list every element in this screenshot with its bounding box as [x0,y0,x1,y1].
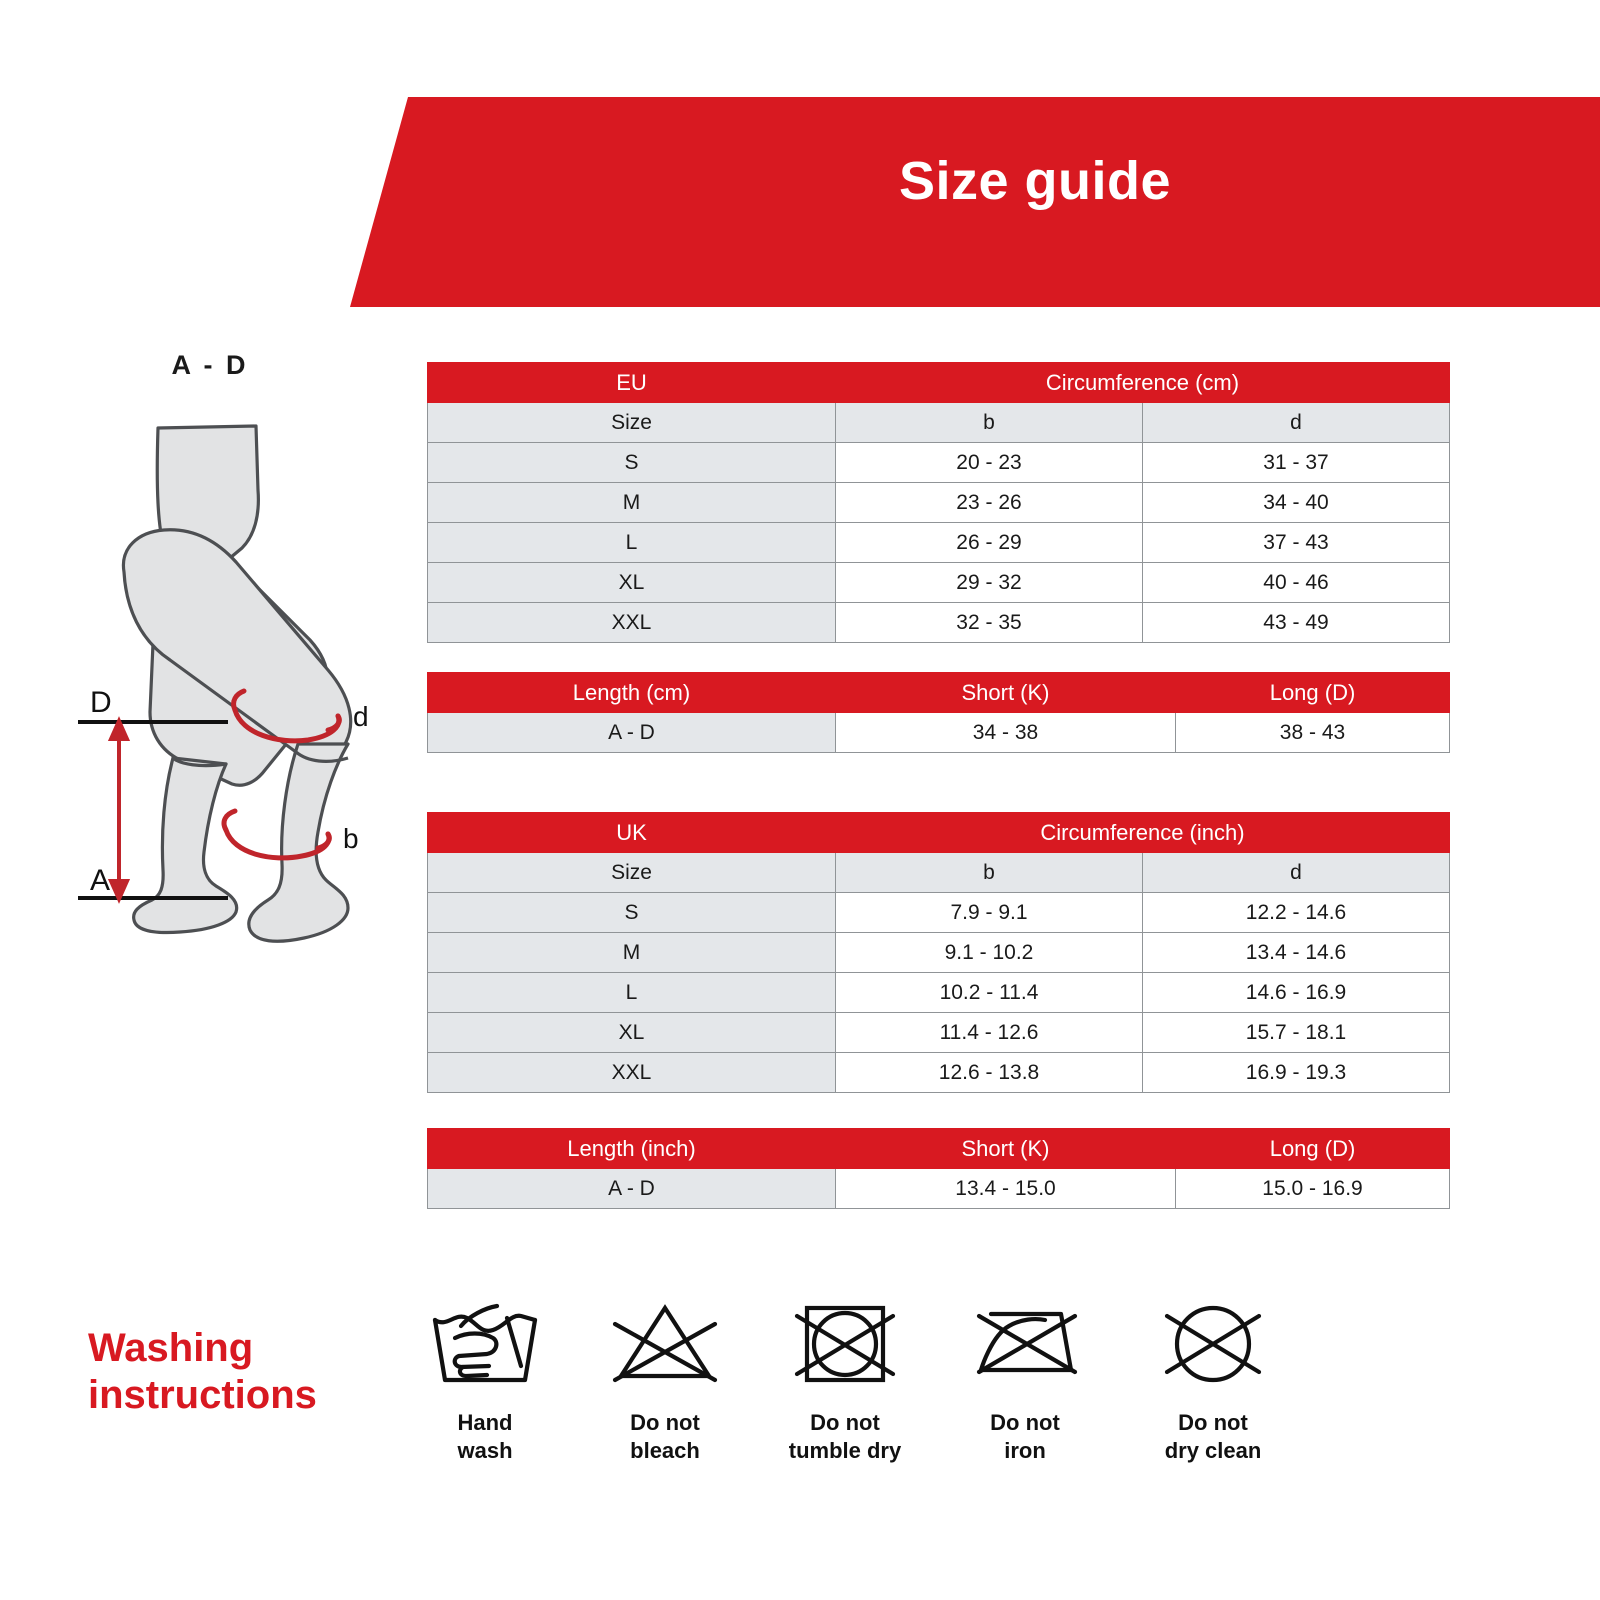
marker-label-a: A [90,864,110,897]
care-symbol-do-not-bleach: Do not bleach [570,1290,760,1464]
care-symbols-row: Hand wash Do not bleach [390,1290,1350,1520]
cell-size: XL [428,1013,836,1053]
table-row: A - D 13.4 - 15.0 15.0 - 16.9 [428,1169,1450,1209]
do-not-iron-icon [930,1290,1120,1395]
cell-b: 32 - 35 [836,603,1143,643]
cell-d: 16.9 - 19.3 [1143,1053,1450,1093]
table-subheader-row: Size b d [428,403,1450,443]
table-uk-circumference: UK Circumference (inch) Size b d S 7.9 -… [427,812,1450,1093]
washing-title-line2: instructions [88,1372,388,1419]
cell-d: 31 - 37 [1143,443,1450,483]
table-length-cm: Length (cm) Short (K) Long (D) A - D 34 … [427,672,1450,753]
table-row: XXL 32 - 35 43 - 49 [428,603,1450,643]
washing-instructions-title: Washing instructions [88,1325,388,1419]
table-row: L 10.2 - 11.4 14.6 - 16.9 [428,973,1450,1013]
cell-d: 14.6 - 16.9 [1143,973,1450,1013]
subheader-d: d [1143,403,1450,443]
table-header-row: Length (inch) Short (K) Long (D) [428,1129,1450,1169]
ring-label-b: b [343,823,359,854]
far-lower-leg-foot [134,758,237,933]
do-not-tumble-dry-icon [750,1290,940,1395]
subheader-b: b [836,403,1143,443]
subheader-size: Size [428,403,836,443]
cell-short: 13.4 - 15.0 [836,1169,1176,1209]
cell-d: 37 - 43 [1143,523,1450,563]
care-label-do-not-tumble-dry: Do not tumble dry [750,1409,940,1464]
care-label-hand-wash: Hand wash [390,1409,580,1464]
table-row: XXL 12.6 - 13.8 16.9 - 19.3 [428,1053,1450,1093]
header-uk-region: UK [428,813,836,853]
cell-size: XL [428,563,836,603]
cell-size: L [428,973,836,1013]
header-eu-measure: Circumference (cm) [836,363,1450,403]
header-long: Long (D) [1176,673,1450,713]
hand-wash-icon [390,1290,580,1395]
cell-d: 34 - 40 [1143,483,1450,523]
cell-size: S [428,893,836,933]
cell-range: A - D [428,1169,836,1209]
header-uk-measure: Circumference (inch) [836,813,1450,853]
cell-b: 7.9 - 9.1 [836,893,1143,933]
cell-range: A - D [428,713,836,753]
cell-short: 34 - 38 [836,713,1176,753]
cell-size: M [428,483,836,523]
table-row: S 7.9 - 9.1 12.2 - 14.6 [428,893,1450,933]
header-length: Length (cm) [428,673,836,713]
cell-b: 23 - 26 [836,483,1143,523]
cell-d: 13.4 - 14.6 [1143,933,1450,973]
table-row: S 20 - 23 31 - 37 [428,443,1450,483]
table-row: M 9.1 - 10.2 13.4 - 14.6 [428,933,1450,973]
cell-b: 12.6 - 13.8 [836,1053,1143,1093]
care-symbol-do-not-dry-clean: Do not dry clean [1118,1290,1308,1464]
table-row: XL 11.4 - 12.6 15.7 - 18.1 [428,1013,1450,1053]
subheader-b: b [836,853,1143,893]
header-long: Long (D) [1176,1129,1450,1169]
cell-d: 15.7 - 18.1 [1143,1013,1450,1053]
subheader-d: d [1143,853,1450,893]
cell-size: S [428,443,836,483]
table-header-row: UK Circumference (inch) [428,813,1450,853]
cell-b: 11.4 - 12.6 [836,1013,1143,1053]
do-not-dry-clean-icon [1118,1290,1308,1395]
care-label-do-not-iron: Do not iron [930,1409,1120,1464]
length-arrow-a-to-d [111,721,127,899]
cell-long: 38 - 43 [1176,713,1450,753]
table-row: A - D 34 - 38 38 - 43 [428,713,1450,753]
cell-size: M [428,933,836,973]
table-row: XL 29 - 32 40 - 46 [428,563,1450,603]
care-label-do-not-dry-clean: Do not dry clean [1118,1409,1308,1464]
subheader-size: Size [428,853,836,893]
care-symbol-hand-wash: Hand wash [390,1290,580,1464]
ring-label-d: d [353,701,369,732]
care-symbol-do-not-tumble-dry: Do not tumble dry [750,1290,940,1464]
header-short: Short (K) [836,1129,1176,1169]
cell-long: 15.0 - 16.9 [1176,1169,1450,1209]
cell-size: XXL [428,1053,836,1093]
table-header-row: EU Circumference (cm) [428,363,1450,403]
care-symbol-do-not-iron: Do not iron [930,1290,1120,1464]
page-title: Size guide [470,150,1600,212]
cell-size: XXL [428,603,836,643]
size-guide-page: Size guide A - D [0,0,1600,1600]
cell-d: 43 - 49 [1143,603,1450,643]
care-label-do-not-bleach: Do not bleach [570,1409,760,1464]
washing-title-line1: Washing [88,1325,388,1372]
cell-d: 40 - 46 [1143,563,1450,603]
header-eu-region: EU [428,363,836,403]
cell-b: 9.1 - 10.2 [836,933,1143,973]
table-row: M 23 - 26 34 - 40 [428,483,1450,523]
table-eu-circumference: EU Circumference (cm) Size b d S 20 - 23… [427,362,1450,643]
marker-label-d: D [90,686,112,719]
header-length: Length (inch) [428,1129,836,1169]
table-subheader-row: Size b d [428,853,1450,893]
do-not-bleach-icon [570,1290,760,1395]
cell-d: 12.2 - 14.6 [1143,893,1450,933]
leg-illustration: d b D A [60,340,390,960]
table-header-row: Length (cm) Short (K) Long (D) [428,673,1450,713]
cell-b: 20 - 23 [836,443,1143,483]
cell-size: L [428,523,836,563]
cell-b: 29 - 32 [836,563,1143,603]
cell-b: 10.2 - 11.4 [836,973,1143,1013]
table-length-inch: Length (inch) Short (K) Long (D) A - D 1… [427,1128,1450,1209]
header-short: Short (K) [836,673,1176,713]
leg-measurement-diagram: A - D [60,340,390,960]
cell-b: 26 - 29 [836,523,1143,563]
table-row: L 26 - 29 37 - 43 [428,523,1450,563]
